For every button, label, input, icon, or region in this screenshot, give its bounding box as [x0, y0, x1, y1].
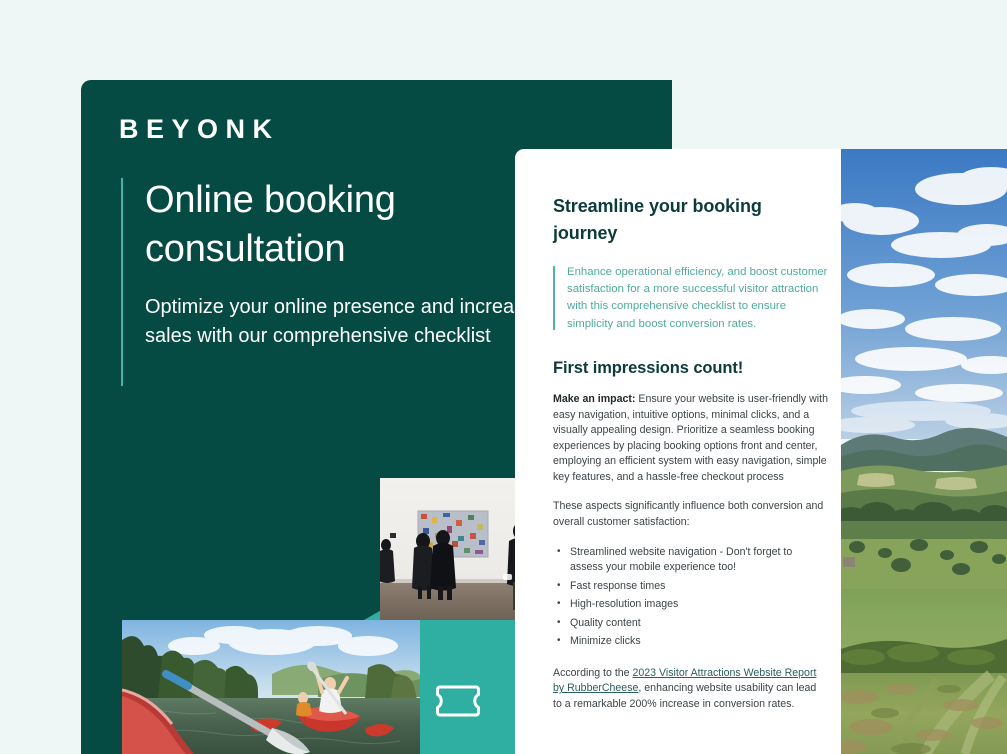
page-subtitle: Optimize your online presence and increa…: [145, 293, 545, 351]
list-item: Fast response times: [570, 579, 828, 595]
impact-paragraph: Make an impact: Ensure your website is u…: [553, 392, 828, 485]
countryside-landscape-photo: [841, 149, 1007, 754]
reference-prefix: According to the: [553, 667, 633, 679]
section-heading-first-impressions: First impressions count!: [553, 359, 828, 378]
beyonk-logo: BEYONK: [119, 116, 280, 143]
intro-quote: Enhance operational efficiency, and boos…: [553, 264, 828, 333]
kayaking-photo: [122, 620, 420, 754]
impact-label: Make an impact:: [553, 393, 635, 405]
page-title: Online booking consultation: [145, 176, 565, 275]
list-item: Minimize clicks: [570, 634, 828, 650]
section-heading-streamline: Streamline your booking journey: [553, 193, 828, 248]
impact-body: Ensure your website is user-friendly wit…: [553, 393, 828, 483]
aspects-intro-paragraph: These aspects significantly influence bo…: [553, 499, 828, 530]
list-item: Quality content: [570, 616, 828, 632]
checklist-content-card: Streamline your booking journey Enhance …: [515, 149, 841, 754]
reference-paragraph: According to the 2023 Visitor Attraction…: [553, 666, 828, 713]
list-item: Streamlined website navigation - Don't f…: [570, 545, 828, 576]
hero-accent-rule: [121, 178, 123, 386]
intro-quote-text: Enhance operational efficiency, and boos…: [567, 264, 828, 333]
list-item: High-resolution images: [570, 597, 828, 613]
document-preview: BEYONK Online booking consultation Optim…: [0, 0, 1007, 754]
ticket-icon: [436, 684, 480, 718]
checklist: Streamlined website navigation - Don't f…: [553, 545, 828, 650]
